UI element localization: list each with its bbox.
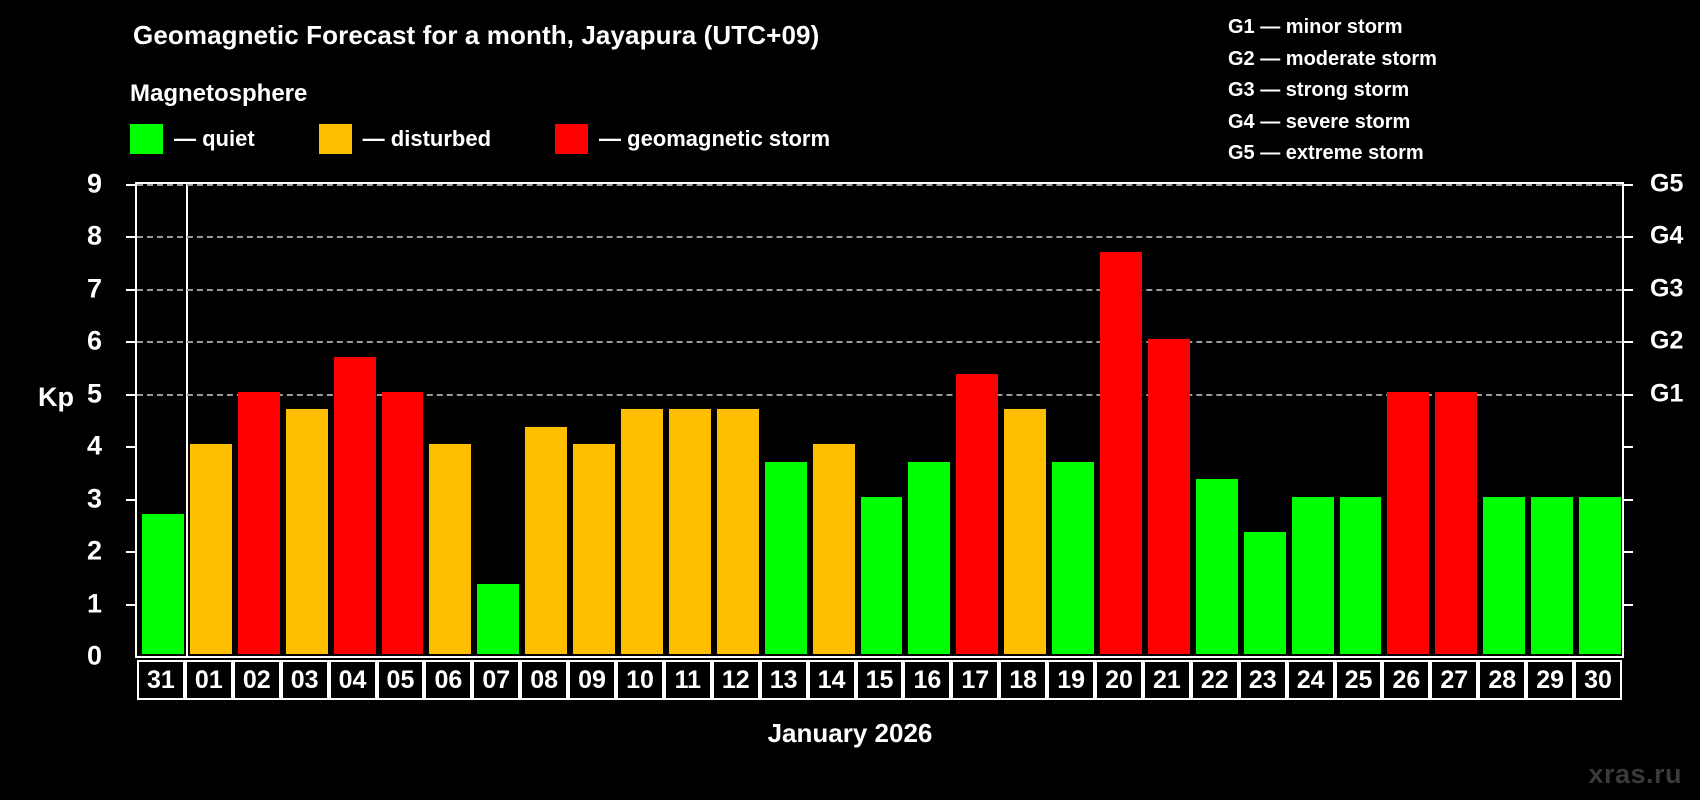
day-label-11[interactable]: 11	[664, 660, 712, 700]
g-scale-line-g2: G2 — moderate storm	[1228, 44, 1437, 76]
day-label-19[interactable]: 19	[1047, 660, 1095, 700]
y-axis-label-4: 4	[87, 431, 102, 462]
y-tick-left-5	[126, 394, 137, 396]
bar-day-01[interactable]	[190, 444, 232, 654]
g-axis-label-G3: G3	[1650, 274, 1683, 303]
green-swatch-icon	[130, 124, 163, 154]
g-scale-legend: G1 — minor storm G2 — moderate storm G3 …	[1228, 12, 1437, 170]
legend-label-storm: — geomagnetic storm	[599, 126, 830, 152]
y-tick-right-4	[1622, 446, 1633, 448]
y-tick-left-2	[126, 551, 137, 553]
legend-label-quiet: — quiet	[174, 126, 255, 152]
day-label-13[interactable]: 13	[760, 660, 808, 700]
y-axis-label-3: 3	[87, 483, 102, 514]
y-tick-right-8	[1622, 236, 1633, 238]
day-label-25[interactable]: 25	[1335, 660, 1383, 700]
bar-day-19[interactable]	[1052, 462, 1094, 654]
g-scale-line-g5: G5 — extreme storm	[1228, 138, 1437, 170]
y-axis-label-8: 8	[87, 221, 102, 252]
chart-root: Geomagnetic Forecast for a month, Jayapu…	[0, 0, 1700, 800]
y-axis-label-2: 2	[87, 536, 102, 567]
orange-swatch-icon	[319, 124, 352, 154]
bar-day-03[interactable]	[286, 409, 328, 654]
y-tick-right-5	[1622, 394, 1633, 396]
bar-day-18[interactable]	[1004, 409, 1046, 654]
y-axis-labels: 0123456789	[0, 182, 122, 658]
g-axis-label-G4: G4	[1650, 222, 1683, 251]
y-tick-left-7	[126, 289, 137, 291]
bar-day-15[interactable]	[861, 497, 903, 654]
day-label-31[interactable]: 31	[137, 660, 185, 700]
day-label-10[interactable]: 10	[616, 660, 664, 700]
g-axis-label-G5: G5	[1650, 170, 1683, 199]
bar-day-11[interactable]	[669, 409, 711, 654]
bar-day-17[interactable]	[956, 374, 998, 654]
legend-item-quiet: — quiet	[130, 124, 255, 154]
y-tick-right-1	[1622, 604, 1633, 606]
day-label-07[interactable]: 07	[472, 660, 520, 700]
y-tick-left-3	[126, 499, 137, 501]
bar-day-28[interactable]	[1483, 497, 1525, 654]
y-tick-right-3	[1622, 499, 1633, 501]
red-swatch-icon	[555, 124, 588, 154]
bar-day-22[interactable]	[1196, 479, 1238, 654]
g-axis-labels: G1G2G3G4G5	[1650, 182, 1700, 658]
y-tick-left-9	[126, 184, 137, 186]
legend: — quiet — disturbed — geomagnetic storm	[130, 123, 830, 155]
day-label-14[interactable]: 14	[808, 660, 856, 700]
bar-day-23[interactable]	[1244, 532, 1286, 654]
g-axis-label-G1: G1	[1650, 379, 1683, 408]
y-axis-label-5: 5	[87, 378, 102, 409]
g-scale-line-g4: G4 — severe storm	[1228, 107, 1437, 139]
day-label-26[interactable]: 26	[1382, 660, 1430, 700]
day-label-18[interactable]: 18	[999, 660, 1047, 700]
day-label-01[interactable]: 01	[185, 660, 233, 700]
y-axis-label-9: 9	[87, 169, 102, 200]
bar-day-26[interactable]	[1387, 392, 1429, 654]
day-label-16[interactable]: 16	[903, 660, 951, 700]
page-title: Geomagnetic Forecast for a month, Jayapu…	[133, 20, 819, 51]
bar-day-05[interactable]	[382, 392, 424, 654]
day-label-17[interactable]: 17	[951, 660, 999, 700]
bar-day-12[interactable]	[717, 409, 759, 654]
bar-day-31[interactable]	[142, 514, 184, 654]
day-label-27[interactable]: 27	[1430, 660, 1478, 700]
bar-day-09[interactable]	[573, 444, 615, 654]
magnetosphere-label: Magnetosphere	[130, 80, 307, 108]
bar-day-30[interactable]	[1579, 497, 1621, 654]
bar-day-13[interactable]	[765, 462, 807, 654]
day-label-21[interactable]: 21	[1143, 660, 1191, 700]
day-label-08[interactable]: 08	[520, 660, 568, 700]
legend-label-disturbed: — disturbed	[363, 126, 491, 152]
bar-day-27[interactable]	[1435, 392, 1477, 654]
g-scale-line-g3: G3 — strong storm	[1228, 75, 1437, 107]
y-tick-left-8	[126, 236, 137, 238]
day-label-02[interactable]: 02	[233, 660, 281, 700]
bar-day-29[interactable]	[1531, 497, 1573, 654]
y-axis-label-1: 1	[87, 588, 102, 619]
day-label-20[interactable]: 20	[1095, 660, 1143, 700]
day-label-06[interactable]: 06	[424, 660, 472, 700]
bar-day-06[interactable]	[429, 444, 471, 654]
y-axis-label-7: 7	[87, 273, 102, 304]
day-label-15[interactable]: 15	[856, 660, 904, 700]
bar-day-25[interactable]	[1340, 497, 1382, 654]
day-label-03[interactable]: 03	[281, 660, 329, 700]
watermark: xras.ru	[1588, 759, 1682, 790]
day-axis: 3101020304050607080910111213141516171819…	[135, 660, 1624, 700]
bar-day-14[interactable]	[813, 444, 855, 654]
legend-item-disturbed: — disturbed	[319, 124, 491, 154]
g-axis-label-G2: G2	[1650, 327, 1683, 356]
y-tick-right-9	[1622, 184, 1633, 186]
bar-day-16[interactable]	[908, 462, 950, 654]
y-axis-label-0: 0	[87, 641, 102, 672]
g-scale-line-g1: G1 — minor storm	[1228, 12, 1437, 44]
y-axis-label-6: 6	[87, 326, 102, 357]
day-label-22[interactable]: 22	[1191, 660, 1239, 700]
bar-day-24[interactable]	[1292, 497, 1334, 654]
bar-day-10[interactable]	[621, 409, 663, 654]
y-tick-left-6	[126, 341, 137, 343]
day-label-05[interactable]: 05	[377, 660, 425, 700]
bar-day-07[interactable]	[477, 584, 519, 654]
bar-day-08[interactable]	[525, 427, 567, 654]
y-tick-left-4	[126, 446, 137, 448]
x-axis-title: January 2026	[0, 718, 1700, 749]
day-label-23[interactable]: 23	[1239, 660, 1287, 700]
bars-layer	[137, 184, 1622, 656]
day-label-09[interactable]: 09	[568, 660, 616, 700]
y-tick-right-6	[1622, 341, 1633, 343]
day-label-30[interactable]: 30	[1574, 660, 1622, 700]
legend-item-storm: — geomagnetic storm	[555, 124, 830, 154]
plot-area	[135, 182, 1624, 658]
bar-day-21[interactable]	[1148, 339, 1190, 654]
y-tick-right-2	[1622, 551, 1633, 553]
y-tick-left-1	[126, 604, 137, 606]
bar-day-02[interactable]	[238, 392, 280, 654]
day-label-28[interactable]: 28	[1478, 660, 1526, 700]
day-label-24[interactable]: 24	[1287, 660, 1335, 700]
day-label-12[interactable]: 12	[712, 660, 760, 700]
bar-day-20[interactable]	[1100, 252, 1142, 654]
bar-day-04[interactable]	[334, 357, 376, 654]
y-tick-right-7	[1622, 289, 1633, 291]
day-label-29[interactable]: 29	[1526, 660, 1574, 700]
day-label-04[interactable]: 04	[329, 660, 377, 700]
